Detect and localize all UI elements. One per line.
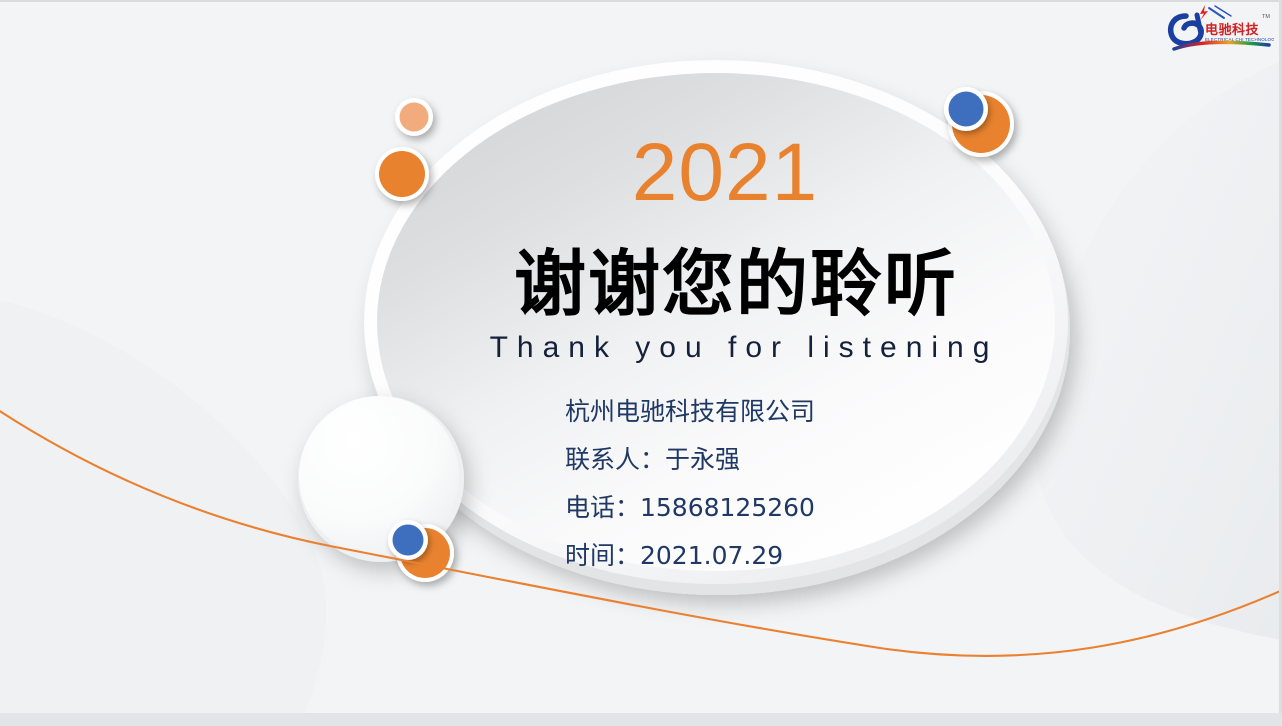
logo-lightning-icon xyxy=(1200,5,1208,20)
circle-blue-bottom-left xyxy=(393,525,424,556)
slide-background-art xyxy=(0,0,1282,726)
logo-d-mark xyxy=(1171,15,1202,44)
circle-blue-top-right xyxy=(949,92,984,127)
logo-company-cn: 电驰科技 xyxy=(1205,22,1260,38)
logo-speed-lines xyxy=(1209,6,1231,18)
presentation-slide: 2021 谢谢您的聆听 Thank you for listening 杭州电驰… xyxy=(0,0,1282,726)
ellipse-inner-face xyxy=(377,73,1055,571)
logo-trademark: TM xyxy=(1262,14,1270,20)
circle-peach-top-left xyxy=(400,103,429,132)
circle-orange-top-left xyxy=(379,151,425,197)
company-logo: 电驰科技 TM ELECTRICAL CHI TECHNOLOGY xyxy=(1166,3,1274,53)
